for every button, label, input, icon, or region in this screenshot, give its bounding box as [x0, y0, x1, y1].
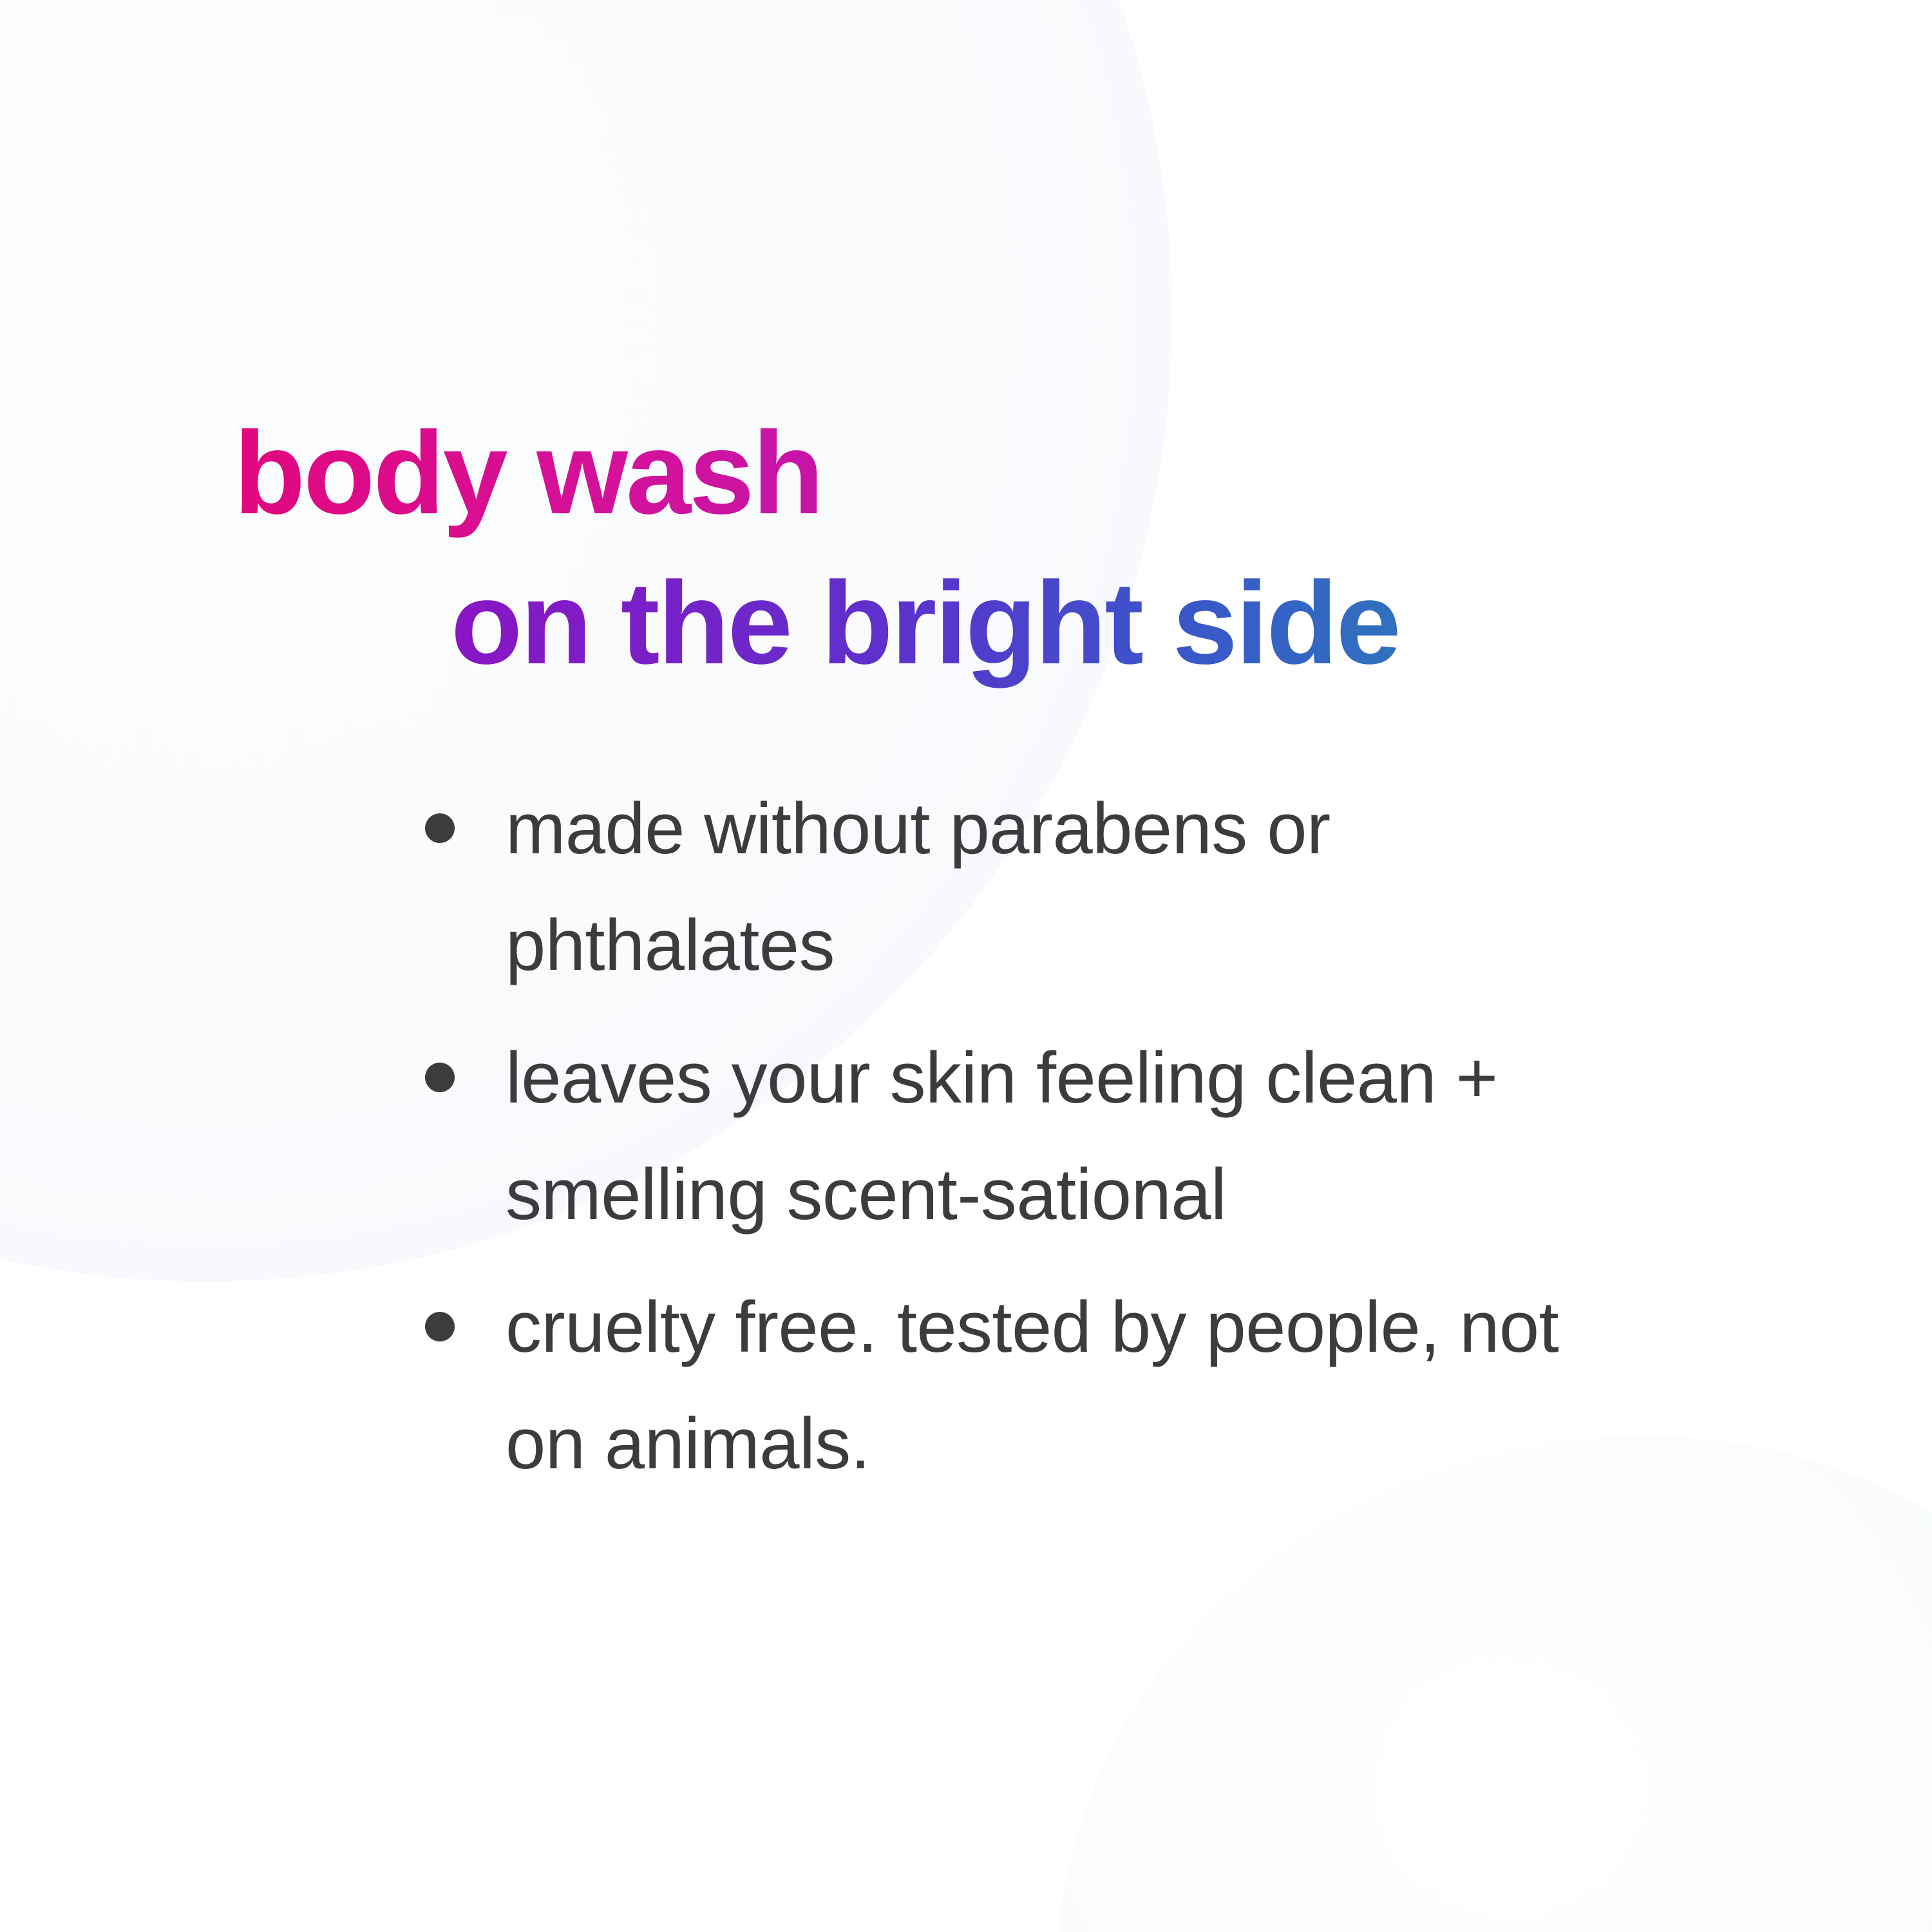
feature-text: cruelty free. tested by people, not on a… [506, 1269, 1639, 1502]
list-item: made without parabens or phthalates [0, 770, 1932, 1004]
bullet-dot-icon [425, 1063, 455, 1092]
feature-list: made without parabens or phthalates leav… [0, 770, 1932, 1502]
headline-line-1: body wash [234, 398, 1932, 548]
feature-text: leaves your skin feeling clean + smellin… [506, 1019, 1639, 1253]
card-content: body wash on the bright side made withou… [0, 0, 1932, 1932]
list-item: cruelty free. tested by people, not on a… [0, 1269, 1932, 1502]
bullet-dot-icon [425, 813, 455, 843]
headline: body wash on the bright side [0, 398, 1932, 698]
headline-line-2: on the bright side [451, 548, 1932, 698]
feature-text: made without parabens or phthalates [506, 770, 1639, 1004]
list-item: leaves your skin feeling clean + smellin… [0, 1019, 1932, 1253]
bullet-dot-icon [425, 1312, 455, 1341]
product-feature-card: body wash on the bright side made withou… [0, 0, 1932, 1932]
